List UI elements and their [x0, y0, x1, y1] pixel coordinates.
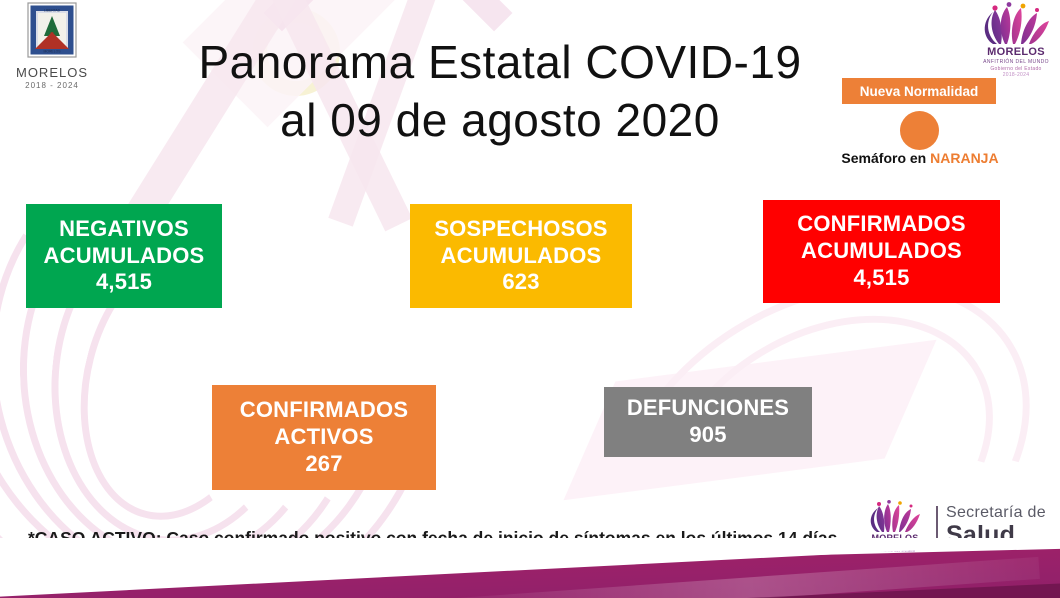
- morelos-government-logo: MORELOS ANFITRIÓN DEL MUNDO Gobierno del…: [978, 2, 1054, 78]
- stat-label-line1: SOSPECHOSOS: [434, 216, 607, 243]
- covid-dashboard-slide: LIBERTAD MORELOS MORELOS 2018 - 2024 Pan…: [0, 0, 1060, 598]
- stat-value: 267: [305, 451, 342, 478]
- stat-label-line1: CONFIRMADOS: [240, 397, 408, 424]
- morelos-state-seal-icon: LIBERTAD MORELOS: [27, 2, 77, 58]
- stat-card-negativos-acumulados: NEGATIVOS ACUMULADOS 4,515: [26, 204, 222, 308]
- svg-text:LIBERTAD: LIBERTAD: [44, 9, 61, 13]
- gov-logo-name: MORELOS: [978, 47, 1054, 58]
- stat-value: 4,515: [96, 269, 152, 296]
- salud-line-1: Secretaría de: [946, 505, 1046, 522]
- ribbon-magenta-band: [0, 548, 1060, 598]
- svg-text:MORELOS: MORELOS: [44, 50, 62, 54]
- semaforo-color-word: NARANJA: [930, 150, 998, 166]
- stat-label-line2: ACUMULADOS: [801, 238, 962, 265]
- stat-value: 905: [689, 422, 726, 449]
- semaforo-status-text: Semáforo en NARANJA: [830, 150, 1010, 166]
- page-title: Panorama Estatal COVID-19 al 09 de agost…: [150, 34, 850, 149]
- morelos-flower-icon: [867, 500, 923, 534]
- stat-value: 4,515: [853, 265, 909, 292]
- stat-label-line2: ACTIVOS: [274, 424, 373, 451]
- seal-state-name: MORELOS: [10, 65, 94, 80]
- stat-label-line2: ACUMULADOS: [44, 243, 205, 270]
- stat-label-line1: DEFUNCIONES: [627, 395, 789, 422]
- stat-card-confirmados-acumulados: CONFIRMADOS ACUMULADOS 4,515: [763, 200, 1000, 303]
- title-line-2: al 09 de agosto 2020: [150, 92, 850, 150]
- stat-card-defunciones: DEFUNCIONES 905: [604, 387, 812, 457]
- stat-card-confirmados-activos: CONFIRMADOS ACTIVOS 267: [212, 385, 436, 490]
- stat-label-line2: ACUMULADOS: [441, 243, 602, 270]
- morelos-state-seal-block: LIBERTAD MORELOS MORELOS 2018 - 2024: [10, 2, 94, 90]
- nueva-normalidad-label: Nueva Normalidad: [860, 84, 979, 99]
- stat-label-line1: CONFIRMADOS: [797, 211, 965, 238]
- seal-years: 2018 - 2024: [10, 81, 94, 90]
- gov-logo-tagline: ANFITRIÓN DEL MUNDO: [978, 59, 1054, 65]
- semaforo-status-dot: [900, 111, 939, 150]
- title-line-1: Panorama Estatal COVID-19: [150, 34, 850, 92]
- stat-card-sospechosos-acumulados: SOSPECHOSOS ACUMULADOS 623: [410, 204, 632, 308]
- stat-label-line1: NEGATIVOS: [59, 216, 189, 243]
- bottom-decorative-ribbon: [0, 538, 1060, 598]
- pink-arc-watermark: [0, 121, 399, 598]
- morelos-flower-icon: [979, 2, 1053, 46]
- stat-value: 623: [502, 269, 539, 296]
- semaforo-prefix: Semáforo en: [841, 150, 930, 166]
- nueva-normalidad-badge: Nueva Normalidad: [842, 78, 996, 104]
